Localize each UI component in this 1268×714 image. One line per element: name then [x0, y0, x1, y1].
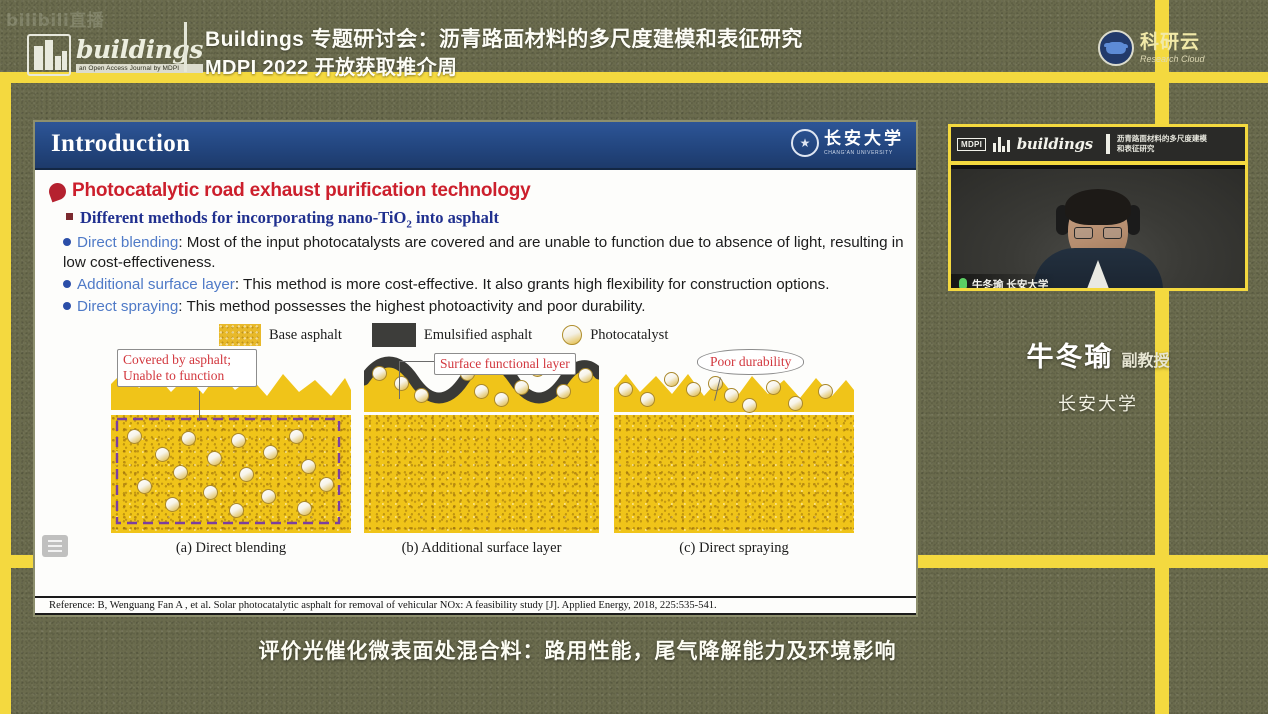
- video-banner: MDPI buildings 沥青路面材料的多尺度建模 和表征研究: [951, 127, 1245, 165]
- speaker-video-feed[interactable]: MDPI buildings 沥青路面材料的多尺度建模 和表征研究 牛冬瑜 长安…: [948, 124, 1248, 291]
- bullet-paragraph-3: Direct spraying: This method possesses t…: [63, 297, 904, 316]
- legend-label-emulsified-asphalt: Emulsified asphalt: [424, 327, 532, 344]
- slide-menu-button[interactable]: [42, 535, 68, 557]
- bullet-sep-1: :: [178, 234, 186, 251]
- buildings-journal-logo: buildings an Open Access Journal by MDPI: [27, 29, 175, 81]
- university-logo-text: 长安大学 CHANG'AN UNIVERSITY: [824, 131, 904, 156]
- bullet-text-3: This method possesses the highest photoa…: [186, 298, 645, 315]
- bullet-text-1: Most of the input photocatalysts are cov…: [63, 234, 904, 270]
- event-title-line-2: MDPI 2022 开放获取推介周: [205, 54, 1105, 82]
- bullet-paragraph-1: Direct blending: Most of the input photo…: [63, 233, 904, 272]
- subheading-row: Different methods for incorporating nano…: [66, 208, 904, 230]
- callout-a-line-2: Unable to function: [123, 368, 251, 384]
- university-seal-icon: ★: [791, 129, 819, 157]
- buildings-bars-icon: [993, 137, 1010, 152]
- bullet-key-1: Direct blending: [77, 234, 178, 251]
- slide-reference: Reference: B, Wenguang Fan A , et al. So…: [35, 596, 916, 615]
- square-bullet-icon: [66, 213, 73, 220]
- callout-surface-functional-layer: Surface functional layer: [434, 353, 576, 375]
- panel-b-asphalt-body: [364, 415, 599, 533]
- speaker-hair: [1065, 189, 1131, 225]
- diagram-panel-direct-spraying: (c) Direct spraying: [614, 368, 854, 533]
- microphone-icon: [959, 278, 967, 290]
- banner-topic-line-2: 和表征研究: [1117, 144, 1207, 154]
- cloud-icon: [1098, 30, 1134, 66]
- panel-a-asphalt-body: [111, 415, 351, 533]
- research-cloud-name-en: Research Cloud: [1140, 55, 1205, 64]
- accent-stripe-vertical-left: [0, 72, 11, 714]
- asphalt-methods-diagram: Covered by asphalt; Unable to function S…: [49, 351, 904, 559]
- subheading: Different methods for incorporating nano…: [80, 208, 499, 230]
- presentation-slide[interactable]: Introduction ★ 长安大学 CHANG'AN UNIVERSITY …: [33, 120, 918, 617]
- banner-topic-cn: 沥青路面材料的多尺度建模 和表征研究: [1117, 134, 1207, 154]
- photocatalyst-swatch-icon: [562, 325, 582, 345]
- page-header: bilibili直播 buildings an Open Access Jour…: [0, 0, 1268, 92]
- speaker-name: 牛冬瑜: [1026, 342, 1113, 372]
- callout-b-leader-horizontal: [399, 361, 435, 362]
- section-bullet-icon: [47, 180, 69, 202]
- panel-a-caption: (a) Direct blending: [111, 540, 351, 557]
- callout-a-leader-line: [199, 391, 200, 421]
- subheading-prefix: Different methods for incorporating nano…: [80, 208, 406, 227]
- event-title-line-1: Buildings 专题研讨会：沥青路面材料的多尺度建模和表征研究: [205, 26, 1105, 54]
- glasses-icon: [1074, 227, 1122, 239]
- round-bullet-icon: [63, 302, 71, 310]
- emulsified-asphalt-swatch-icon: [372, 323, 416, 347]
- callout-b-line-1: Surface functional layer: [440, 356, 570, 372]
- section-heading: Photocatalytic road exhaust purification…: [72, 180, 531, 202]
- bullet-key-3: Direct spraying: [77, 298, 178, 315]
- banner-journal-name: buildings: [1017, 135, 1093, 153]
- legend-label-photocatalyst: Photocatalyst: [590, 327, 668, 344]
- slide-header-band: Introduction ★ 长安大学 CHANG'AN UNIVERSITY: [35, 122, 916, 170]
- video-nametag-text: 牛冬瑜 长安大学: [972, 277, 1048, 292]
- bullet-paragraph-2: Additional surface layer: This method is…: [63, 275, 904, 294]
- subheading-suffix: into asphalt: [412, 208, 499, 227]
- bullet-sep-2: :: [235, 276, 243, 293]
- banner-topic-line-1: 沥青路面材料的多尺度建模: [1117, 134, 1207, 144]
- bullet-text-2: This method is more cost-effective. It a…: [243, 276, 829, 293]
- bilibili-live-watermark: bilibili直播: [6, 6, 104, 31]
- buildings-logo-icon: [27, 34, 71, 76]
- speaker-name-row: 牛冬瑜副教授: [948, 335, 1248, 374]
- callout-b-leader-vertical: [399, 361, 400, 399]
- callout-c-line-1: Poor durability: [710, 354, 791, 370]
- university-name-en: CHANG'AN UNIVERSITY: [824, 151, 904, 156]
- bottom-caption: 评价光催化微表面处混合料：路用性能，尾气降解能力及环境影响: [0, 635, 1155, 665]
- changan-university-logo: ★ 长安大学 CHANG'AN UNIVERSITY: [791, 129, 904, 157]
- research-cloud-logo: 科研云 Research Cloud: [1098, 30, 1205, 66]
- base-asphalt-swatch-icon: [219, 324, 261, 346]
- speaker-panel: MDPI buildings 沥青路面材料的多尺度建模 和表征研究 牛冬瑜 长安…: [948, 124, 1248, 416]
- banner-separator: [1106, 134, 1110, 154]
- event-title: Buildings 专题研讨会：沥青路面材料的多尺度建模和表征研究 MDPI 2…: [205, 26, 1105, 82]
- callout-covered-by-asphalt: Covered by asphalt; Unable to function: [117, 349, 257, 386]
- round-bullet-icon: [63, 238, 71, 246]
- diagram-legend: Base asphalt Emulsified asphalt Photocat…: [219, 323, 904, 347]
- mdpi-logo: MDPI: [957, 138, 986, 151]
- video-nametag: 牛冬瑜 长安大学: [951, 274, 1056, 291]
- panel-c-caption: (c) Direct spraying: [614, 540, 854, 557]
- callout-poor-durability: Poor durability: [697, 349, 804, 375]
- callout-a-line-1: Covered by asphalt;: [123, 352, 251, 368]
- bullet-key-2: Additional surface layer: [77, 276, 235, 293]
- slide-title: Introduction: [51, 130, 190, 158]
- legend-label-base-asphalt: Base asphalt: [269, 327, 342, 344]
- research-cloud-name-cn: 科研云: [1140, 33, 1205, 52]
- section-heading-row: Photocatalytic road exhaust purification…: [49, 180, 904, 202]
- speaker-organization: 长安大学: [948, 390, 1248, 416]
- diagram-panel-direct-blending: (a) Direct blending: [111, 366, 351, 533]
- speaker-rank: 副教授: [1121, 353, 1169, 370]
- panel-c-asphalt-body: [614, 415, 854, 533]
- webcam-image: 牛冬瑜 长安大学: [951, 169, 1245, 291]
- research-cloud-logo-text: 科研云 Research Cloud: [1140, 33, 1205, 64]
- university-name-cn: 长安大学: [824, 131, 904, 148]
- header-divider: [184, 22, 187, 72]
- round-bullet-icon: [63, 280, 71, 288]
- slide-body: Photocatalytic road exhaust purification…: [35, 170, 916, 559]
- panel-b-caption: (b) Additional surface layer: [364, 540, 599, 557]
